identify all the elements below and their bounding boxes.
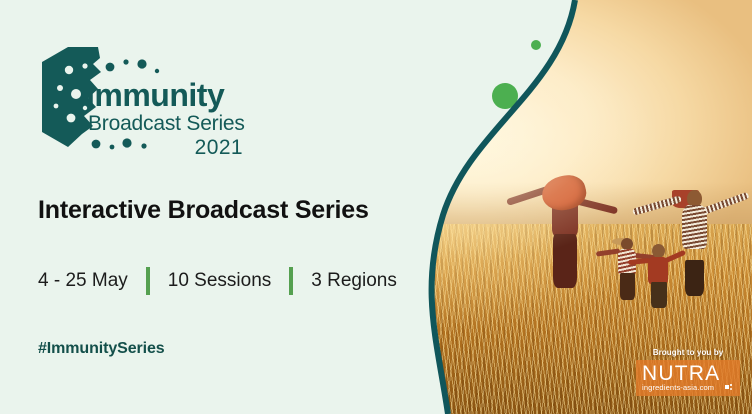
green-dot-small-icon [531,40,541,50]
sponsor-domain-text: ingredients-asia.com [642,383,714,392]
green-dot-large-icon [492,83,518,109]
sponsor-lockup[interactable]: Brought to you by NUTRA ingredients-asia… [636,348,740,396]
immunity-logo: Immunity Broadcast Series 2021 [38,44,248,164]
stat-sessions: 10 Sessions [168,270,272,292]
stat-divider-2 [289,267,293,295]
page-title: Interactive Broadcast Series [38,196,369,225]
logo-name: Immunity [86,77,225,113]
photo-figure-child-2 [642,244,674,304]
immunity-broadcast-series-banner: Immunity Broadcast Series 2021 Interacti… [0,0,752,414]
logo-year: 2021 [195,136,243,159]
sponsor-logo-box[interactable]: NUTRA ingredients-asia.com [636,360,740,396]
photo-figure-man [542,176,588,288]
content-column: Immunity Broadcast Series 2021 Interacti… [0,0,440,414]
sponsor-kicker: Brought to you by [636,348,740,357]
stat-dates: 4 - 25 May [38,270,128,292]
stat-regions: 3 Regions [311,270,397,292]
sponsor-domain-row: ingredients-asia.com [642,383,734,392]
logo-subtitle: Broadcast Series [88,112,245,135]
event-stats: 4 - 25 May 10 Sessions 3 Regions [38,265,397,297]
stat-divider-1 [146,267,150,295]
photo-figure-child-1 [612,238,642,300]
sponsor-squares-icon [725,384,734,391]
hashtag[interactable]: #ImmunitySeries [38,340,165,358]
photo-figure-woman [672,190,716,296]
sponsor-name: NUTRA [642,363,734,384]
